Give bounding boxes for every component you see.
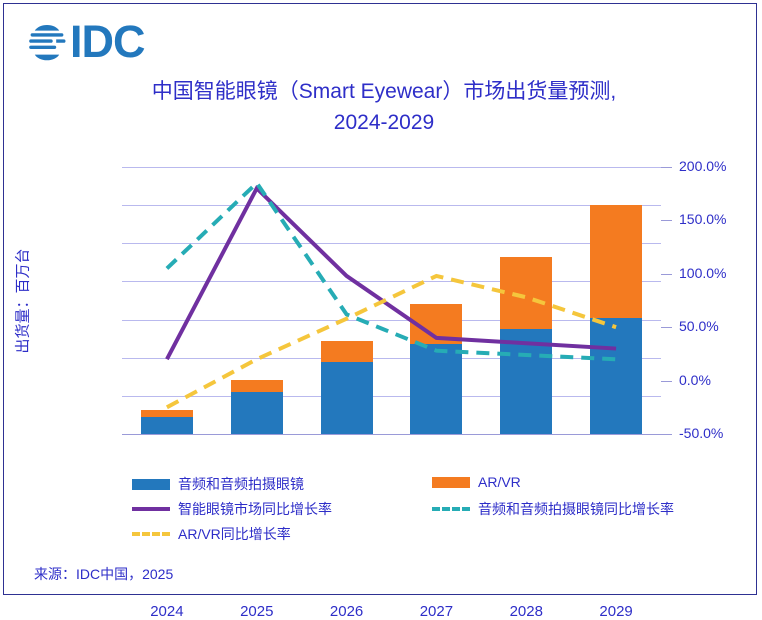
line-智能眼镜市场同比增长率[interactable]	[167, 188, 616, 359]
y2-axis-tick: 100.0%	[679, 265, 749, 281]
y2-tick-mark	[661, 220, 672, 221]
legend-label: AR/VR同比增长率	[178, 524, 291, 544]
chart-plot-area: 02468101214-50.0%0.0%50.0%100.0%150.0%20…	[122, 167, 661, 434]
y2-axis-tick: 200.0%	[679, 158, 749, 174]
x-axis-tick: 2024	[127, 603, 207, 620]
page-title: 中国智能眼镜（Smart Eyewear）市场出货量预测, 2024-2029	[64, 76, 704, 138]
legend-arvr-growth[interactable]: AR/VR同比增长率	[132, 524, 291, 544]
legend-label: 智能眼镜市场同比增长率	[178, 499, 332, 519]
y2-axis-tick: -50.0%	[679, 425, 749, 441]
legend-swatch-icon	[432, 477, 470, 488]
x-axis-tick: 2027	[396, 603, 476, 620]
y2-tick-mark	[661, 274, 672, 275]
source-note: 来源：IDC中国，2025	[34, 564, 173, 584]
y2-axis-tick: 0.0%	[679, 372, 749, 388]
y2-tick-mark	[661, 327, 672, 328]
idc-logo-text: IDC	[70, 19, 145, 64]
legend-market-growth[interactable]: 智能眼镜市场同比增长率	[132, 499, 332, 519]
legend-solid-line-icon	[132, 507, 170, 511]
legend-label: 音频和音频拍摄眼镜	[178, 474, 304, 494]
line-AR/VR同比增长率[interactable]	[167, 276, 616, 407]
x-axis-tick: 2025	[217, 603, 297, 620]
legend-arvr[interactable]: AR/VR	[432, 474, 521, 490]
legend-audio-growth[interactable]: 音频和音频拍摄眼镜同比增长率	[432, 499, 674, 519]
legend-label: AR/VR	[478, 474, 521, 490]
y2-tick-mark	[661, 434, 672, 435]
legend-swatch-icon	[132, 479, 170, 490]
legend-audio-glasses[interactable]: 音频和音频拍摄眼镜	[132, 474, 304, 494]
line-series-overlay	[122, 167, 661, 434]
x-axis-tick: 2026	[307, 603, 387, 620]
idc-logo: IDC	[26, 20, 186, 68]
title-line-2: 2024-2029	[64, 107, 704, 138]
x-axis-line	[122, 434, 661, 435]
y-axis-label: 出货量：百万台	[12, 248, 33, 353]
legend-dashed-line-icon	[132, 532, 170, 536]
x-axis-tick: 2028	[486, 603, 566, 620]
y2-axis-tick: 150.0%	[679, 211, 749, 227]
y2-tick-mark	[661, 381, 672, 382]
y2-axis-tick: 50.0%	[679, 318, 749, 334]
y2-tick-mark	[661, 167, 672, 168]
line-音频和音频拍摄眼镜同比增长率[interactable]	[167, 183, 616, 359]
legend-label: 音频和音频拍摄眼镜同比增长率	[478, 499, 674, 519]
idc-globe-icon	[26, 22, 68, 64]
legend-dashed-line-icon	[432, 507, 470, 511]
title-line-1: 中国智能眼镜（Smart Eyewear）市场出货量预测,	[152, 80, 616, 103]
chart-frame: IDC 中国智能眼镜（Smart Eyewear）市场出货量预测, 2024-2…	[3, 3, 757, 595]
x-axis-tick: 2029	[576, 603, 656, 620]
